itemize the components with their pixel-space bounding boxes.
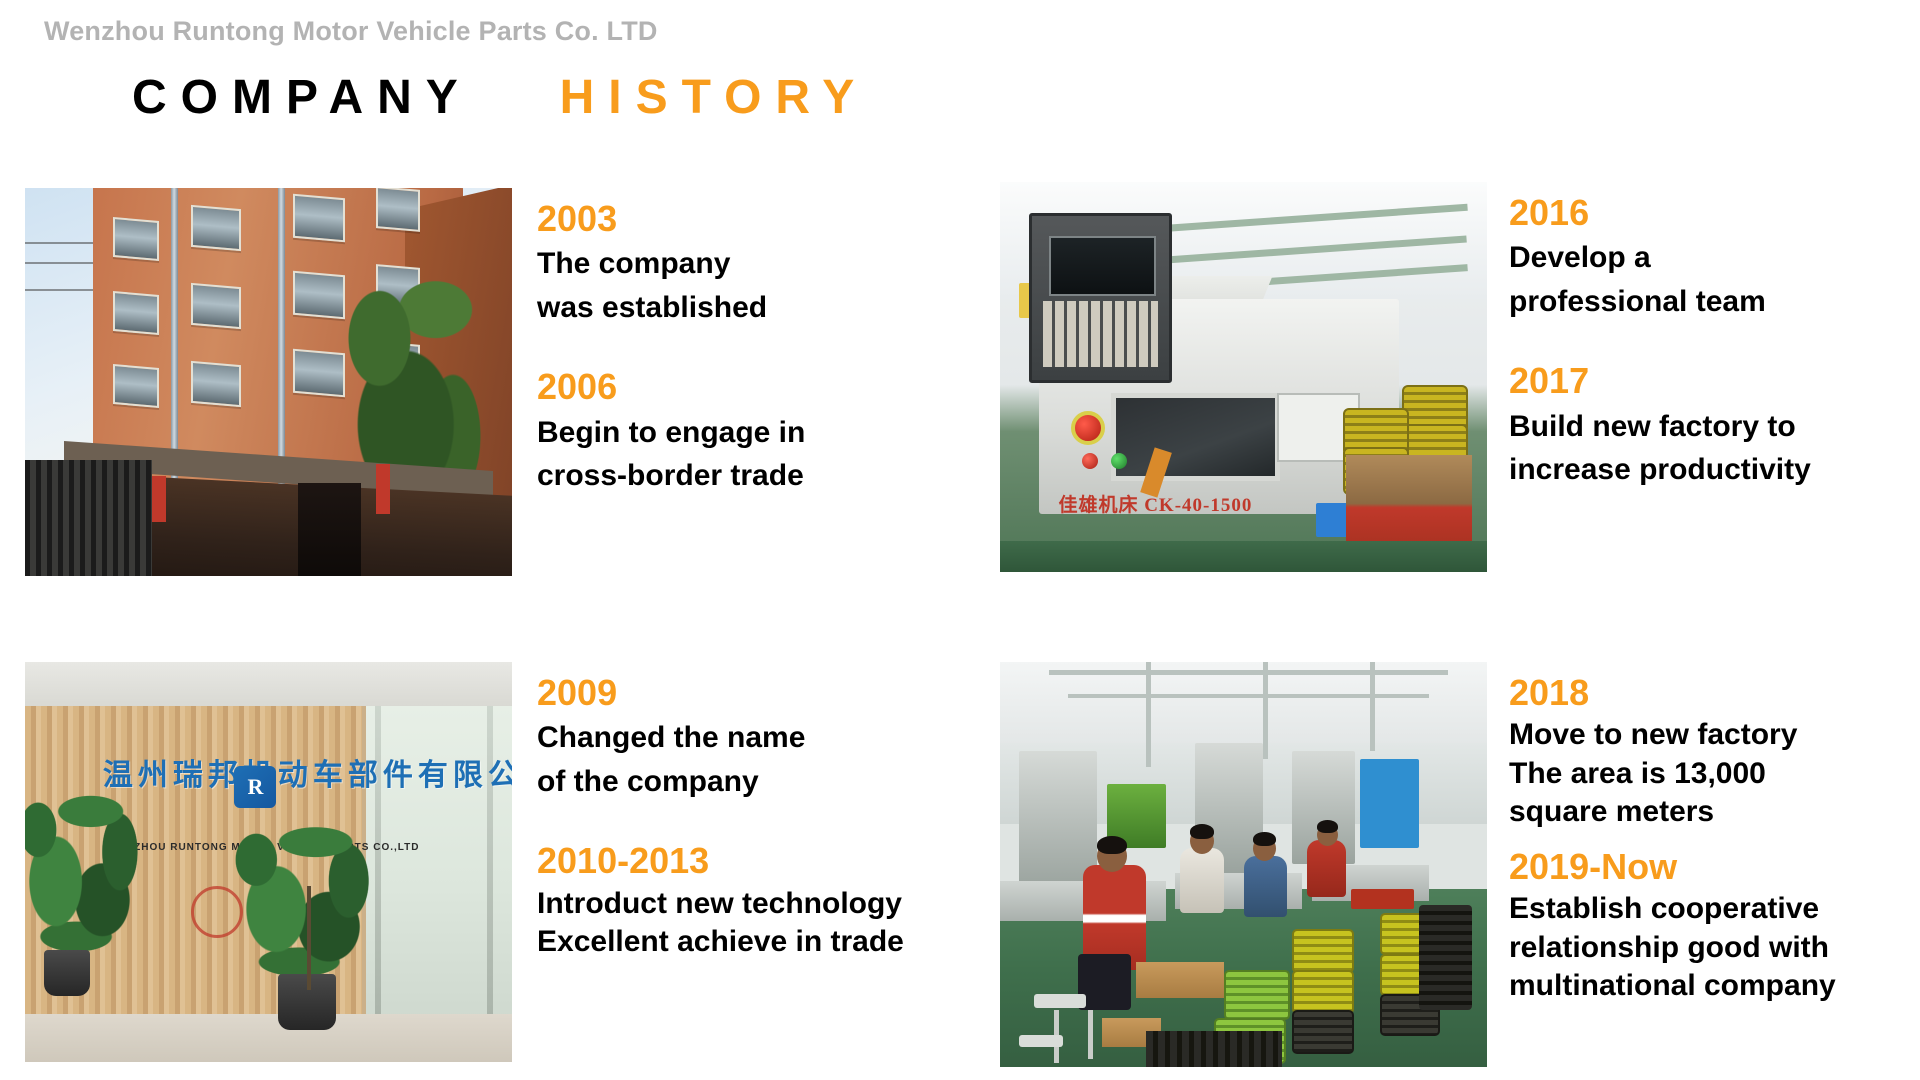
blue-equipment <box>1360 759 1418 848</box>
entry-spacer <box>1509 330 1900 360</box>
entry-line: Establish cooperative <box>1509 890 1905 928</box>
metal-fence <box>25 460 152 576</box>
entry-line: increase productivity <box>1509 448 1900 492</box>
history-entry-2006: 2006 Begin to engage in cross-border tra… <box>537 366 985 498</box>
lobby-floor <box>25 1014 512 1062</box>
history-cell-top-right: 佳雄机床 CK-40-1500 2016 Develop a professio… <box>1000 182 1900 574</box>
wood-board <box>1136 962 1224 998</box>
history-cell-bottom-left: 温州瑞邦机动车部件有限公司 R WENZHOU RUNTONG MOTOR VE… <box>25 662 1000 1062</box>
entry-line: Introduct new technology <box>537 885 1000 923</box>
stool-seat <box>1019 1035 1063 1047</box>
worker-seated <box>1244 856 1288 917</box>
machine-door-window <box>1111 393 1280 480</box>
history-entry-2019-now: 2019-Now Establish cooperative relations… <box>1509 846 1905 1006</box>
worker-hair <box>1317 820 1338 833</box>
red-banner <box>152 476 166 522</box>
vertical-pipe <box>1263 662 1268 759</box>
window <box>293 193 345 242</box>
storage-basket <box>1292 970 1354 1014</box>
entry-spacer <box>537 336 985 366</box>
cnc-control-panel[interactable] <box>1029 213 1171 383</box>
storage-basket <box>1292 1010 1354 1054</box>
red-cart <box>1351 889 1414 909</box>
office-lobby-photo: 温州瑞邦机动车部件有限公司 R WENZHOU RUNTONG MOTOR VE… <box>25 662 512 1062</box>
ceiling-pipe <box>1049 670 1448 675</box>
history-cell-top-left: 2003 The company was established 2006 Be… <box>25 188 985 578</box>
history-entry-2016: 2016 Develop a professional team <box>1509 192 1900 324</box>
window <box>191 205 241 251</box>
plant-stem <box>307 886 311 990</box>
red-button[interactable] <box>1082 453 1098 469</box>
assembly-workshop-photo <box>1000 662 1487 1067</box>
entry-line: Excellent achieve in trade <box>537 923 1000 961</box>
page-title-main: COMPANY <box>132 71 471 124</box>
history-entry-2003: 2003 The company was established <box>537 198 985 330</box>
storage-basket <box>1292 929 1354 973</box>
vertical-pipe <box>1370 662 1375 751</box>
entry-line: relationship good with <box>1509 929 1905 967</box>
worker-standing <box>1180 848 1224 913</box>
entry-line: Changed the name <box>537 716 1000 760</box>
worker-standing <box>1307 840 1346 897</box>
history-entry-2009: 2009 Changed the name of the company <box>537 672 1000 804</box>
entry-line: The company <box>537 242 985 286</box>
company-name-chinese: 温州瑞邦机动车部件有限公司 <box>103 750 512 794</box>
plant-pot <box>44 950 90 996</box>
entry-year: 2009 <box>537 672 1000 714</box>
stool-leg <box>1088 1010 1093 1059</box>
parts-on-floor <box>1146 1031 1282 1067</box>
worker-hair <box>1253 832 1276 846</box>
emergency-stop-button[interactable] <box>1071 411 1105 445</box>
window <box>113 217 159 261</box>
office-building-photo <box>25 188 512 576</box>
entry-line: cross-border trade <box>537 454 985 498</box>
worker-hair <box>1190 824 1214 839</box>
company-logo-badge: R <box>234 766 276 808</box>
parts-stack <box>1419 905 1473 1010</box>
page-title-accent: HISTORY <box>560 71 869 124</box>
history-entry-2017: 2017 Build new factory to increase produ… <box>1509 360 1900 492</box>
history-cell-bottom-right: 2018 Move to new factory The area is 13,… <box>1000 662 1905 1067</box>
entry-year: 2018 <box>1509 672 1905 714</box>
window <box>113 364 159 408</box>
entry-line: professional team <box>1509 280 1900 324</box>
window <box>191 360 241 406</box>
company-history-slide: Wenzhou Runtong Motor Vehicle Parts Co. … <box>0 0 1920 1080</box>
cnc-display-screen <box>1049 236 1157 296</box>
entry-line: of the company <box>537 760 1000 804</box>
entry-line: Build new factory to <box>1509 405 1900 449</box>
entrance-door <box>298 483 361 576</box>
potted-plant <box>25 782 152 966</box>
cnc-keypad[interactable] <box>1043 301 1158 367</box>
cnc-machine-photo: 佳雄机床 CK-40-1500 <box>1000 182 1487 572</box>
entry-line: The area is 13,000 <box>1509 755 1905 793</box>
machine-brand-text: 佳雄机床 CK-40-1500 <box>1058 490 1252 517</box>
entry-year: 2006 <box>537 366 985 408</box>
stool-seat <box>1034 994 1086 1008</box>
history-text-bottom-right: 2018 Move to new factory The area is 13,… <box>1487 662 1905 1011</box>
red-banner <box>376 464 390 514</box>
lobby-ceiling <box>25 662 512 706</box>
window <box>191 283 241 329</box>
entry-year: 2010-2013 <box>537 840 1000 882</box>
workshop-floor <box>1000 541 1487 572</box>
entry-spacer <box>537 810 1000 840</box>
page-title: COMPANY HISTORY <box>132 70 868 125</box>
window <box>113 291 159 335</box>
entry-line: square meters <box>1509 793 1905 831</box>
entry-line: multinational company <box>1509 967 1905 1005</box>
history-entry-2010-2013: 2010-2013 Introduct new technology Excel… <box>537 840 1000 961</box>
history-text-bottom-left: 2009 Changed the name of the company 201… <box>512 662 1000 967</box>
vertical-pipe <box>1146 662 1151 767</box>
entry-year: 2016 <box>1509 192 1900 234</box>
storage-basket <box>1224 970 1290 1020</box>
entry-line: Begin to engage in <box>537 411 985 455</box>
worker-hair <box>1097 836 1127 854</box>
company-name-header: Wenzhou Runtong Motor Vehicle Parts Co. … <box>44 16 658 47</box>
history-entry-2018: 2018 Move to new factory The area is 13,… <box>1509 672 1905 832</box>
entry-year: 2003 <box>537 198 985 240</box>
history-text-top-right: 2016 Develop a professional team 2017 Bu… <box>1487 182 1900 498</box>
history-text-top-left: 2003 The company was established 2006 Be… <box>512 188 985 504</box>
entry-line: was established <box>537 286 985 330</box>
entry-spacer <box>1509 838 1905 846</box>
entry-year: 2019-Now <box>1509 846 1905 888</box>
potted-plant <box>220 814 386 990</box>
entry-line: Move to new factory <box>1509 716 1905 754</box>
entry-year: 2017 <box>1509 360 1900 402</box>
entry-line: Develop a <box>1509 236 1900 280</box>
window <box>376 188 420 232</box>
